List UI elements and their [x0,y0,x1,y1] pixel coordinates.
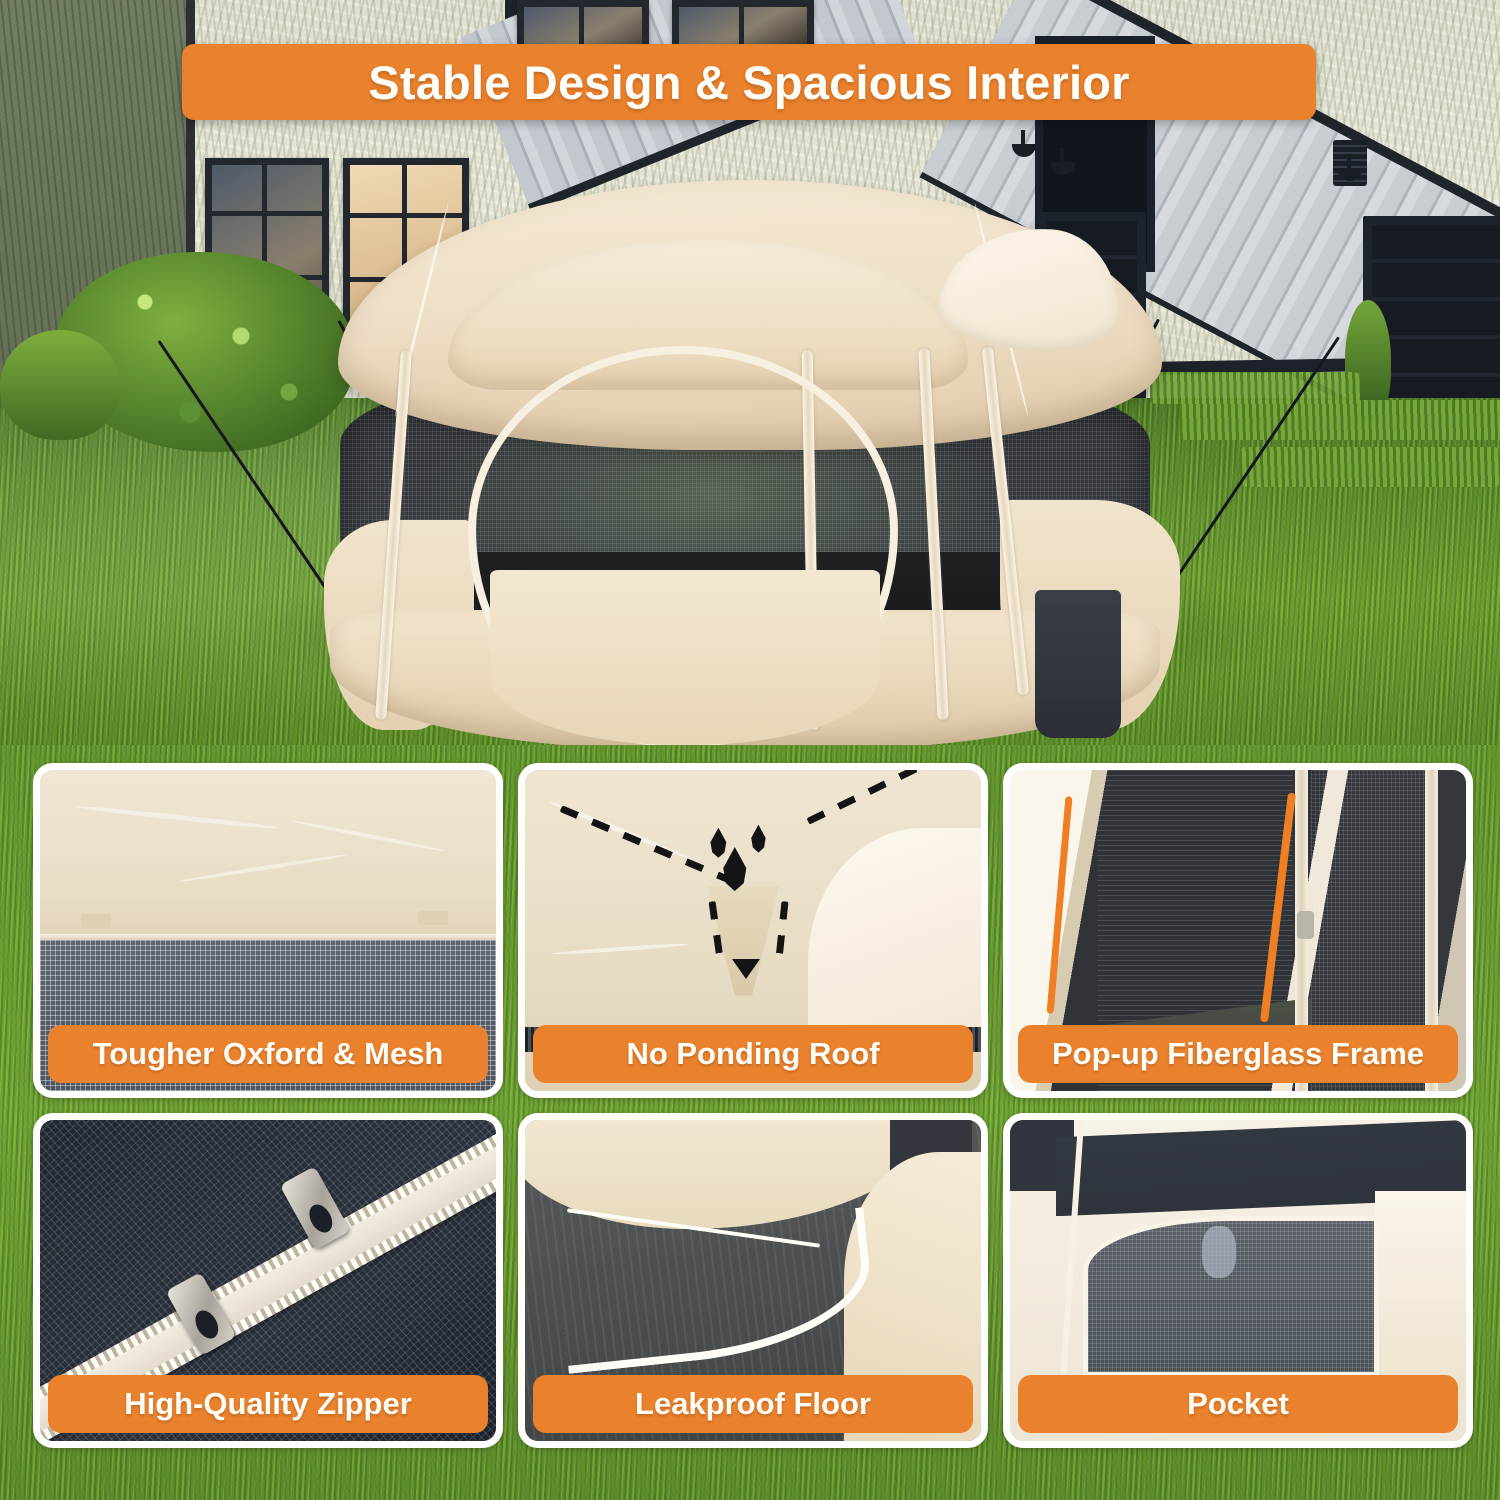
feature-caption: Tougher Oxford & Mesh [48,1025,488,1083]
pocket-label-tag [1202,1226,1236,1278]
tent-door-lower-panel [490,570,880,745]
feature-caption: Leakproof Floor [533,1375,973,1433]
feature-card-leakproof-floor[interactable]: Leakproof Floor [518,1113,988,1448]
feature-label: No Ponding Roof [626,1036,879,1072]
feature-card-oxford-mesh[interactable]: Tougher Oxford & Mesh [33,763,503,1098]
feature-card-zipper[interactable]: High-Quality Zipper [33,1113,503,1448]
feature-caption: High-Quality Zipper [48,1375,488,1433]
feature-card-fiberglass-frame[interactable]: Pop-up Fiberglass Frame [1003,763,1473,1098]
feature-caption: Pocket [1018,1375,1458,1433]
screen-house-tent [300,170,1200,730]
page-title: Stable Design & Spacious Interior [368,55,1129,110]
feature-caption: Pop-up Fiberglass Frame [1018,1025,1458,1083]
feature-label: Pop-up Fiberglass Frame [1052,1036,1424,1072]
feature-card-pocket[interactable]: Pocket [1003,1113,1473,1448]
tent-side-vent [1035,590,1121,738]
feature-label: Pocket [1187,1386,1289,1422]
down-arrow-icon [732,959,760,979]
ornamental-grass-row-1 [1180,400,1500,440]
shrub-left-edge [0,330,120,440]
feature-grid: Tougher Oxford & Mesh [0,745,1500,1500]
title-banner: Stable Design & Spacious Interior [182,44,1316,120]
feature-label: High-Quality Zipper [124,1386,412,1422]
product-feature-infographic: Stable Design & Spacious Interior Toughe… [0,0,1500,1500]
feature-card-no-ponding-roof[interactable]: No Ponding Roof [518,763,988,1098]
feature-label: Tougher Oxford & Mesh [93,1036,444,1072]
feature-label: Leakproof Floor [635,1386,871,1422]
ornamental-grass-row-2 [1240,447,1500,487]
feature-caption: No Ponding Roof [533,1025,973,1083]
hero-image: Stable Design & Spacious Interior [0,0,1500,760]
